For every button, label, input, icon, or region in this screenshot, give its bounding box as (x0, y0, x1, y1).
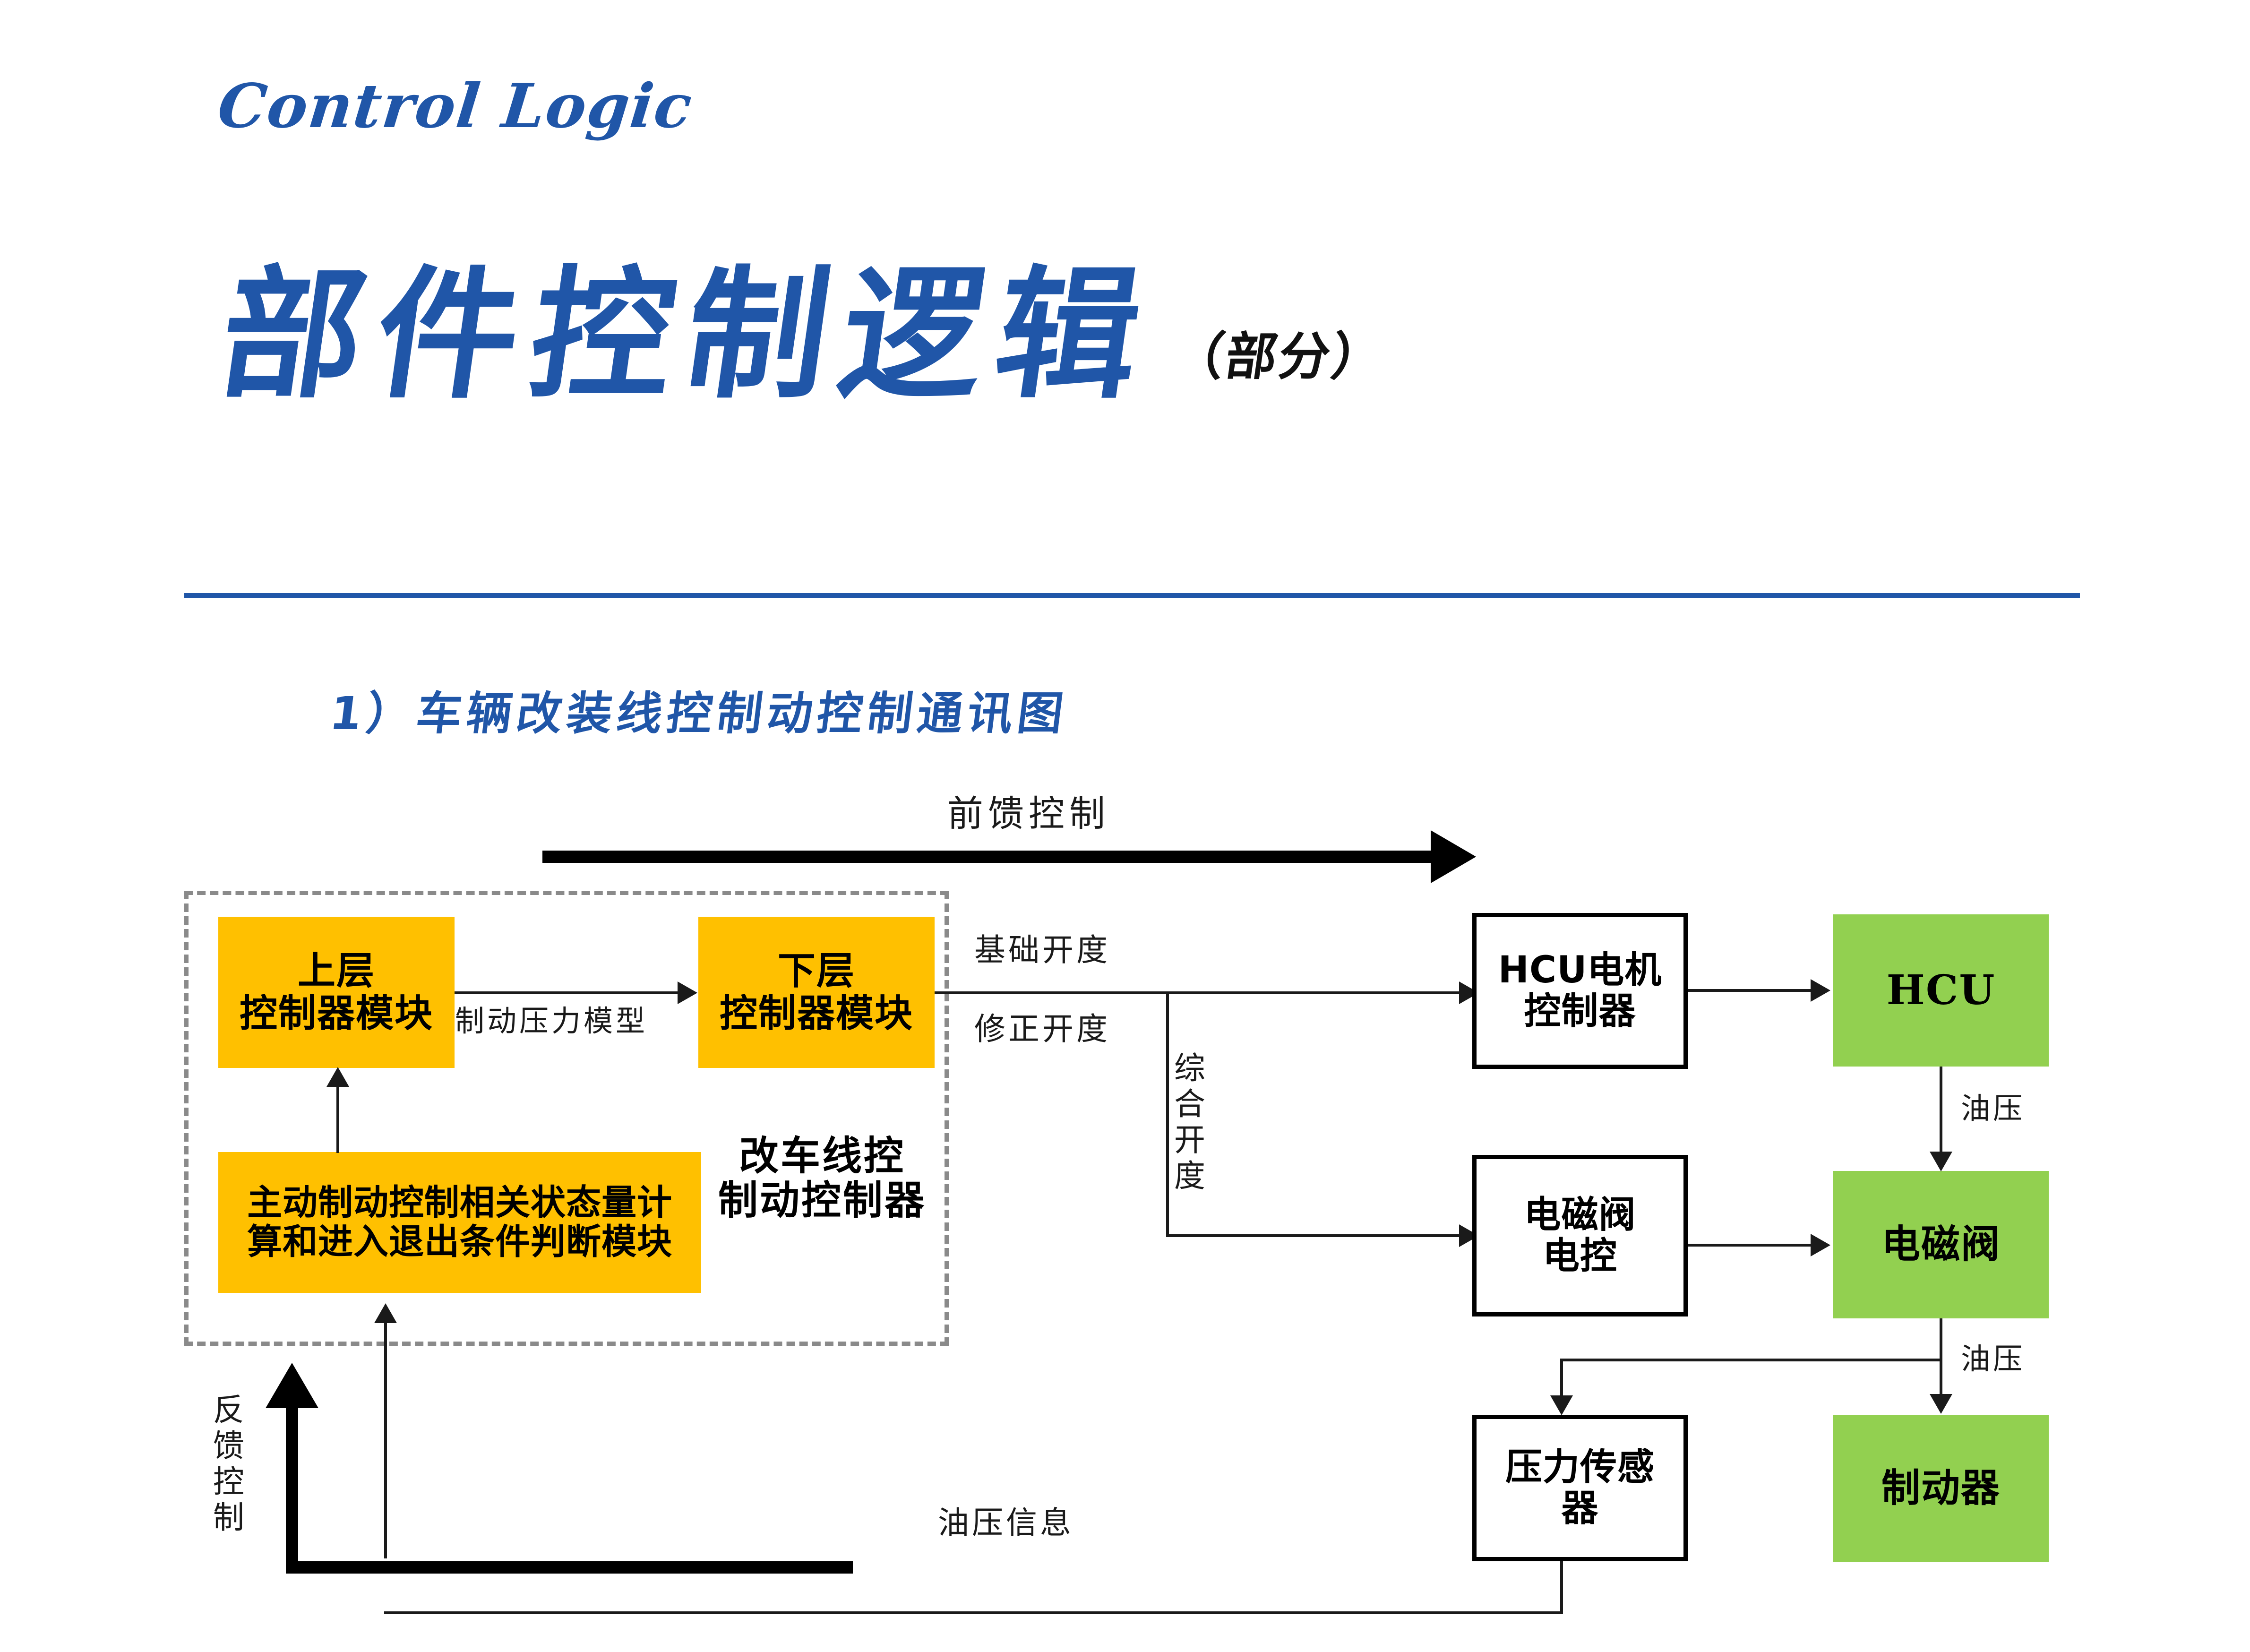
box-hcu-motor-controller[interactable]: HCU电机 控制器 (1472, 913, 1688, 1069)
edge-label-brake-pressure-model: 制动压力模型 (455, 1004, 648, 1038)
feedforward-arrow-shaft (542, 851, 1431, 863)
edge-label-oil-pressure-info: 油压信息 (938, 1505, 1074, 1541)
edge-branch-to-solenoid-shaft (1166, 1234, 1459, 1237)
edge-label-combined-opening: 综合开度 (1169, 1051, 1205, 1195)
edge-upper-to-lower-shaft (455, 991, 678, 994)
feedback-bottom-rail (286, 1561, 853, 1574)
box-solenoid-valve-ecu[interactable]: 电磁阀 电控 (1472, 1155, 1688, 1316)
edge-feedback-to-state-head (374, 1303, 397, 1323)
edge-hcu-motor-to-hcu-shaft (1688, 989, 1811, 992)
box-solenoid-valve[interactable]: 电磁阀 (1833, 1171, 2049, 1318)
edge-lower-to-hcu-motor-shaft (935, 991, 1459, 994)
edge-hcu-to-valve-shaft (1940, 1067, 1942, 1152)
edge-label-feedback-control: 反馈控制 (208, 1393, 244, 1537)
edge-solenoid-ecu-to-valve-shaft (1688, 1244, 1811, 1247)
edge-label-oil-pressure-1: 油压 (1961, 1092, 2025, 1125)
edge-oil-pressure-info-shaft (384, 1611, 1563, 1614)
edge-valve-to-brake-shaft (1940, 1318, 1942, 1394)
edge-label-corrected-opening: 修正开度 (974, 1011, 1110, 1047)
group-box-label: 改车线控 制动控制器 (695, 1124, 950, 1232)
box-pressure-sensor[interactable]: 压力传感 器 (1472, 1415, 1688, 1561)
edge-hcu-motor-to-hcu-head (1811, 979, 1830, 1002)
edge-upper-to-lower-head (678, 981, 697, 1004)
feedback-arrow-shaft (286, 1408, 298, 1574)
edge-valve-branch-to-sensor-head (1550, 1395, 1573, 1415)
feedback-arrow-head (266, 1363, 318, 1408)
box-active-brake-state-module[interactable]: 主动制动控制相关状态量计 算和进入退出条件判断模块 (218, 1152, 701, 1293)
box-hcu[interactable]: HCU (1833, 914, 2049, 1067)
edge-sensor-down-shaft (1560, 1561, 1563, 1614)
feedforward-arrow-head (1431, 830, 1476, 883)
edge-state-to-upper-shaft (336, 1086, 339, 1153)
box-brake[interactable]: 制动器 (1833, 1415, 2049, 1562)
edge-feedback-to-state-shaft (384, 1322, 387, 1558)
edge-state-to-upper-head (326, 1067, 349, 1087)
edge-label-feedforward-control: 前馈控制 (947, 793, 1110, 834)
edge-valve-branch-to-sensor-shaft (1560, 1359, 1941, 1361)
edge-solenoid-ecu-to-valve-head (1811, 1234, 1830, 1256)
box-lower-controller-module[interactable]: 下层 控制器模块 (698, 917, 935, 1068)
edge-valve-branch-down-shaft (1560, 1359, 1563, 1395)
edge-label-oil-pressure-2: 油压 (1961, 1342, 2025, 1376)
edge-hcu-to-valve-head (1930, 1152, 1952, 1171)
edge-valve-to-brake-head (1930, 1394, 1952, 1414)
edge-label-base-opening: 基础开度 (974, 932, 1110, 968)
edge-branch-down-shaft (1166, 991, 1169, 1237)
control-communication-diagram: 前馈控制 改车线控 制动控制器 上层 控制器模块 下层 控制器模块 制动压力模型… (0, 0, 2250, 1652)
box-upper-controller-module[interactable]: 上层 控制器模块 (218, 917, 455, 1068)
